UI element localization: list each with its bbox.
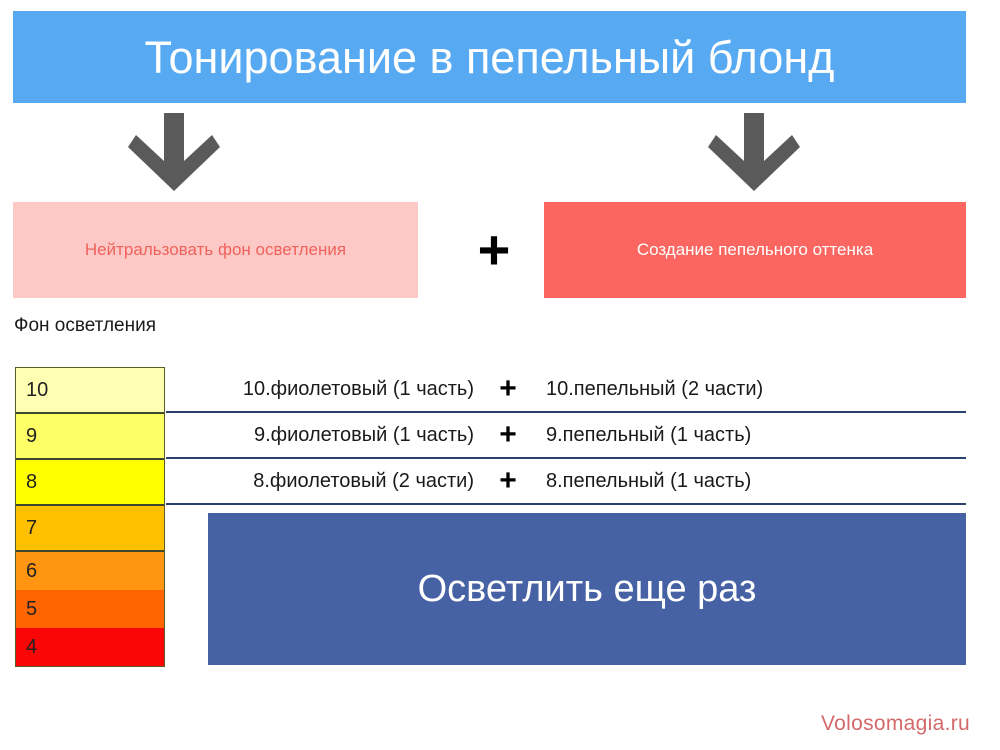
level-swatch: 4 xyxy=(16,628,164,666)
level-swatch: 6 xyxy=(16,552,164,590)
mix-ash-label: 9.пепельный (1 часть) xyxy=(538,424,966,447)
mix-violet-label: 10.фиолетовый (1 часть) xyxy=(166,378,478,401)
mix-violet-label: 9.фиолетовый (1 часть) xyxy=(166,424,478,447)
level-swatch: 7 xyxy=(16,506,164,552)
cta-box-lighten-again: Осветлить еще раз xyxy=(208,513,966,665)
watermark: Volosomagia.ru xyxy=(821,712,970,736)
plus-icon-row: + xyxy=(478,466,538,496)
level-swatch-column: 10987654 xyxy=(15,367,165,667)
arrow-down-icon-right xyxy=(708,113,800,193)
level-swatch-number: 7 xyxy=(26,517,37,540)
page-title-banner: Тонирование в пепельный блонд xyxy=(13,11,966,103)
mix-table: 10.фиолетовый (1 часть)+10.пепельный (2 … xyxy=(166,367,966,505)
level-swatch-number: 8 xyxy=(26,471,37,494)
mix-table-row: 10.фиолетовый (1 часть)+10.пепельный (2 … xyxy=(166,367,966,413)
plus-icon-main: + xyxy=(471,215,517,285)
mix-table-row: 8.фиолетовый (2 части)+8.пепельный (1 ча… xyxy=(166,459,966,505)
infographic-root: Тонирование в пепельный блонд Нейтральзо… xyxy=(0,0,1000,750)
level-swatch-number: 9 xyxy=(26,425,37,448)
step-box-create-ash-tone: Создание пепельного оттенка xyxy=(544,202,966,298)
mix-table-row: 9.фиолетовый (1 часть)+9.пепельный (1 ча… xyxy=(166,413,966,459)
mix-ash-label: 10.пепельный (2 части) xyxy=(538,378,966,401)
page-title: Тонирование в пепельный блонд xyxy=(145,35,835,80)
level-swatch: 10 xyxy=(16,368,164,414)
plus-icon-row: + xyxy=(478,374,538,404)
step-create-label: Создание пепельного оттенка xyxy=(637,240,873,260)
plus-icon-row: + xyxy=(478,420,538,450)
step-box-neutralize: Нейтральзовать фон осветления xyxy=(13,202,418,298)
arrow-down-icon-left xyxy=(128,113,220,193)
step-neutralize-label: Нейтральзовать фон осветления xyxy=(85,240,346,260)
level-swatch-number: 10 xyxy=(26,379,48,402)
level-swatch-number: 6 xyxy=(26,560,37,583)
level-swatch: 5 xyxy=(16,590,164,628)
mix-violet-label: 8.фиолетовый (2 части) xyxy=(166,470,478,493)
level-swatch-number: 4 xyxy=(26,636,37,659)
section-caption-lightening-background: Фон осветления xyxy=(14,315,156,337)
mix-ash-label: 8.пепельный (1 часть) xyxy=(538,470,966,493)
level-swatch-number: 5 xyxy=(26,598,37,621)
level-swatch: 8 xyxy=(16,460,164,506)
cta-label: Осветлить еще раз xyxy=(418,568,757,611)
level-swatch: 9 xyxy=(16,414,164,460)
